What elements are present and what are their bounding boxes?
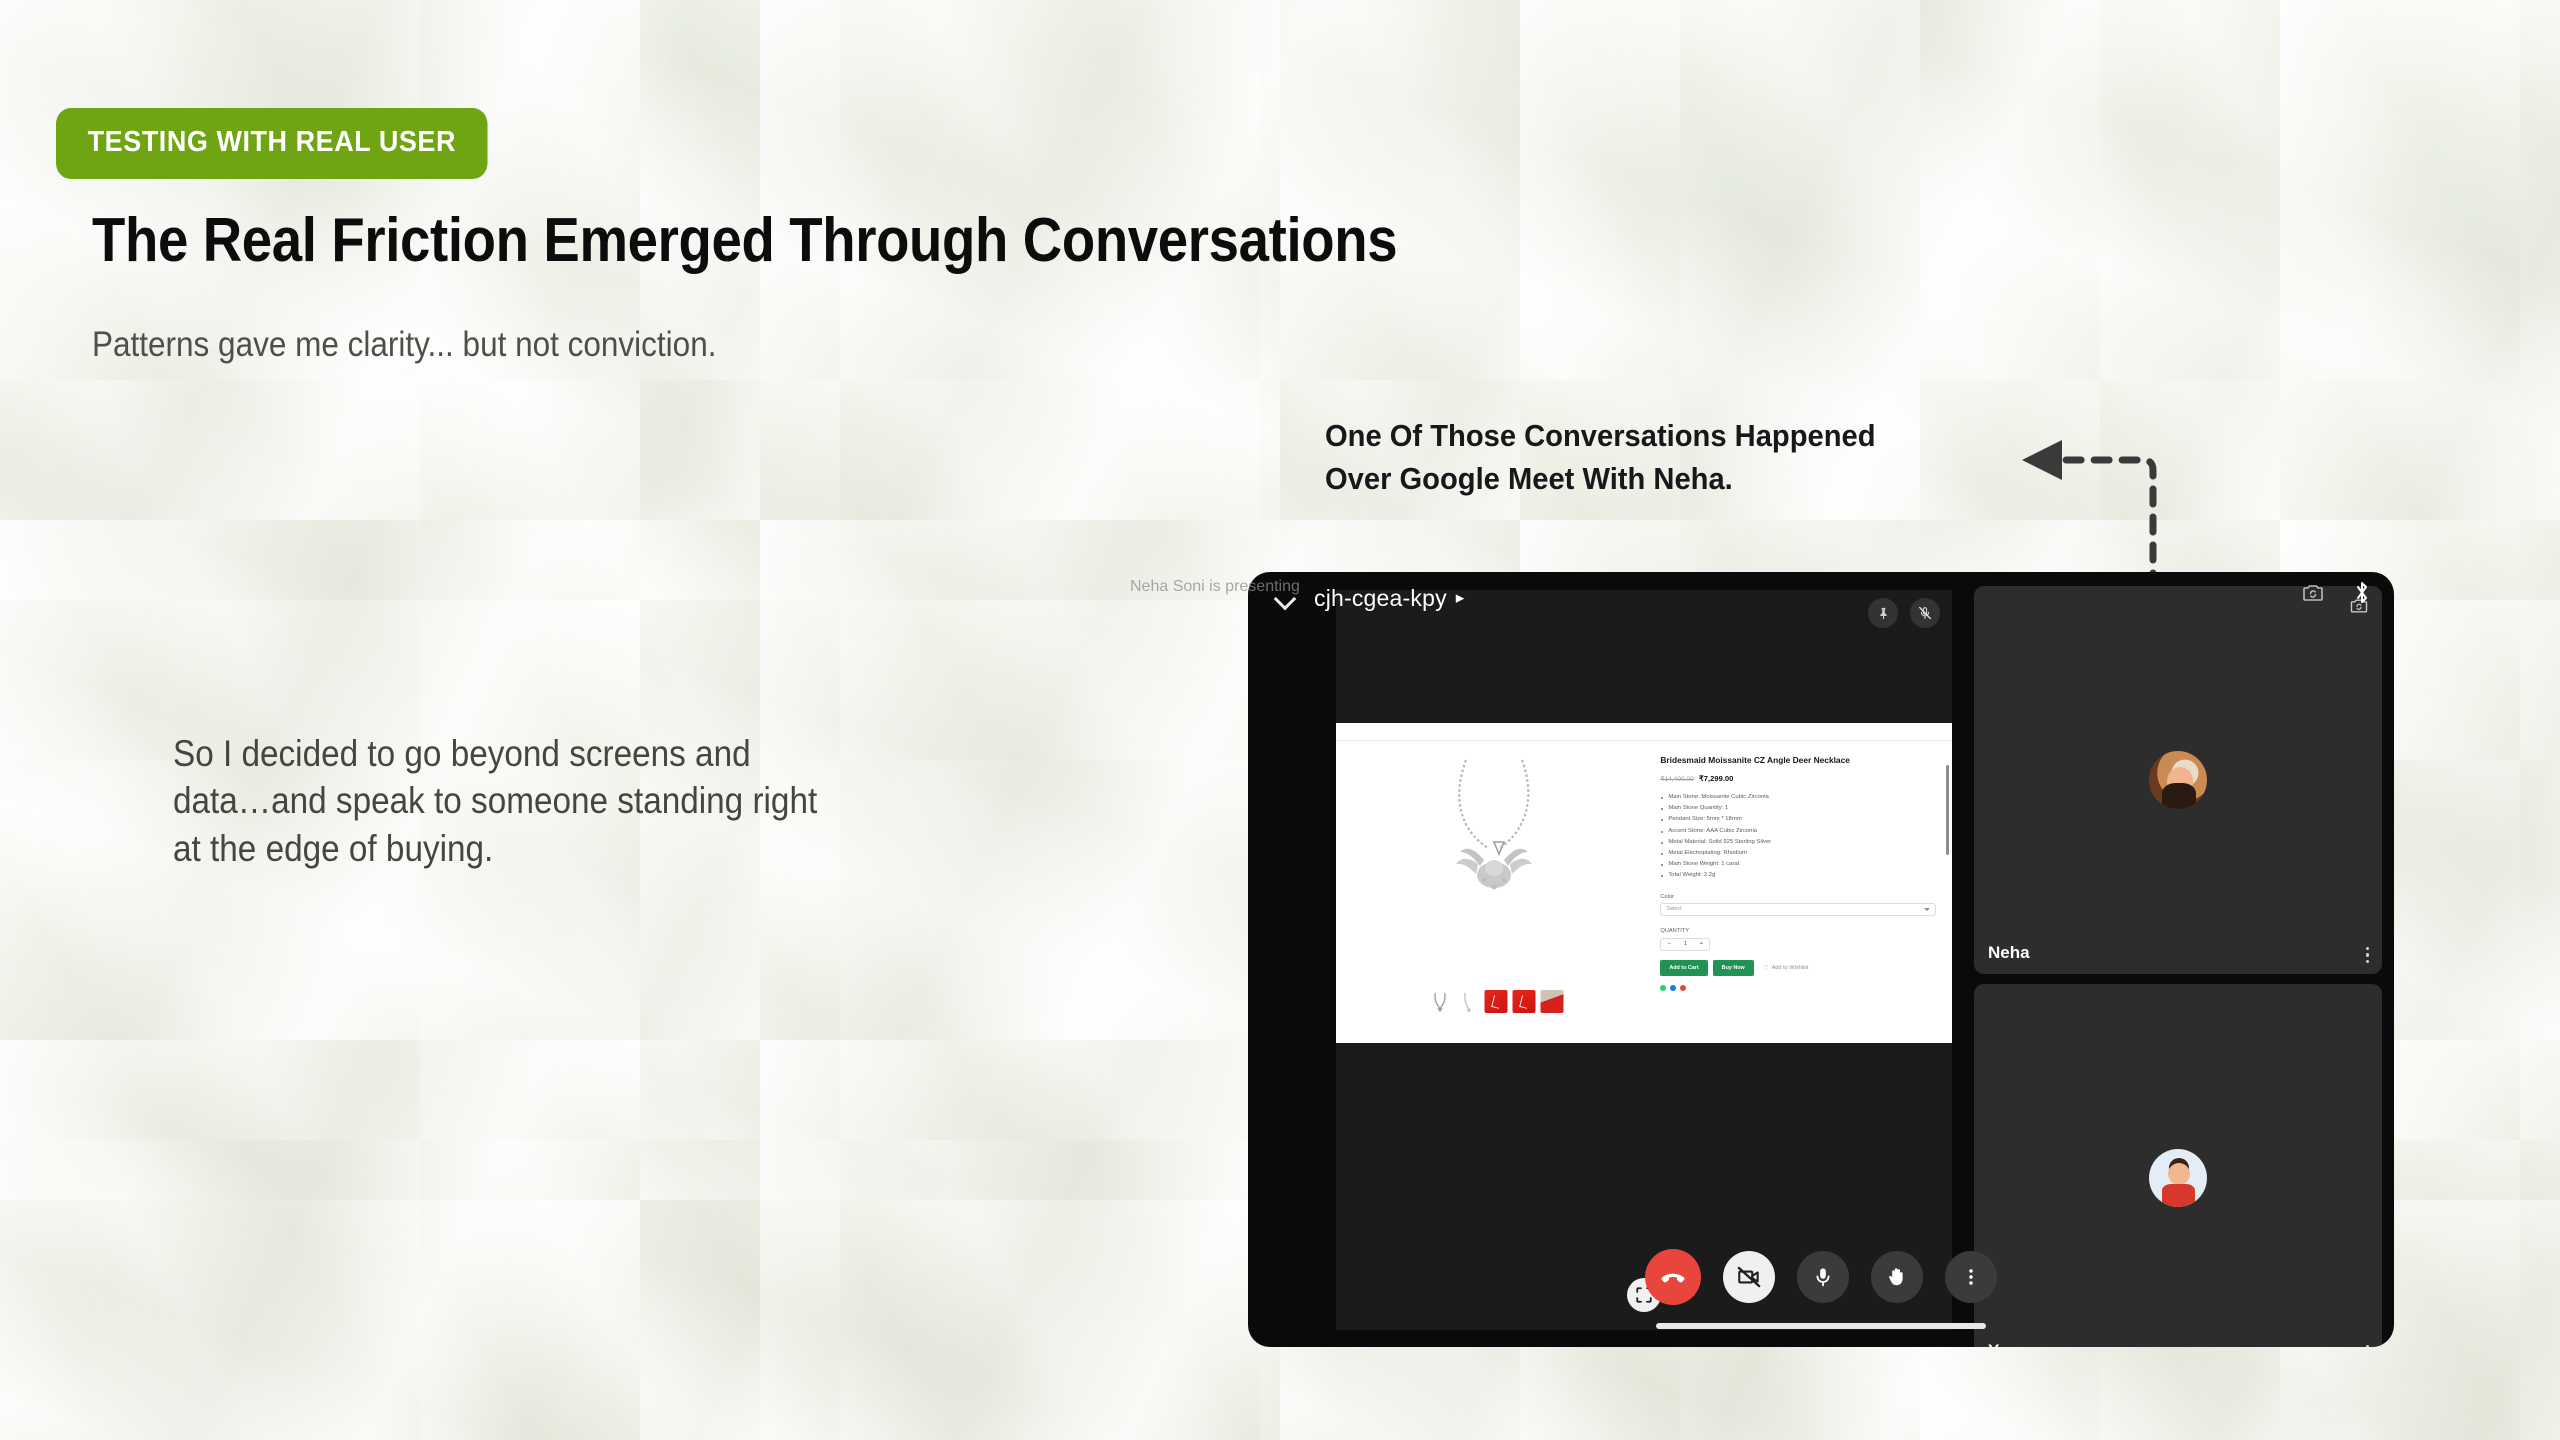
thumbnail-5[interactable] xyxy=(1541,990,1564,1013)
thumbnail-1[interactable] xyxy=(1429,990,1452,1013)
presenting-status-label: Neha Soni is presenting xyxy=(1130,578,1300,596)
product-thumbnails[interactable] xyxy=(1429,990,1564,1013)
thumbnail-3[interactable] xyxy=(1485,990,1508,1013)
wishlist-label: Add to Wishlist xyxy=(1772,965,1809,971)
add-to-wishlist-button[interactable]: ♡ Add to Wishlist xyxy=(1763,964,1809,972)
chevron-right-icon[interactable]: ▸ xyxy=(1456,588,1465,608)
spec-item: Total Weight: 2.2g xyxy=(1660,870,1936,881)
facebook-icon[interactable] xyxy=(1670,985,1676,991)
quantity-label: QUANTITY xyxy=(1660,928,1936,934)
body-line-2: data…and speak to someone standing right xyxy=(173,777,1154,824)
raise-hand-button[interactable] xyxy=(1871,1251,1923,1303)
microphone-button[interactable] xyxy=(1797,1251,1849,1303)
heart-icon: ♡ xyxy=(1763,964,1769,972)
shared-browser-chrome xyxy=(1336,723,1952,741)
camera-toggle-button[interactable] xyxy=(1723,1251,1775,1303)
end-call-button[interactable] xyxy=(1645,1249,1701,1305)
qty-value: 1 xyxy=(1684,941,1687,947)
annotation-callout: One Of Those Conversations Happened Over… xyxy=(1325,415,1983,501)
whatsapp-icon[interactable] xyxy=(1660,985,1666,991)
product-gallery[interactable] xyxy=(1336,742,1656,1043)
section-badge: TESTING WITH REAL USER xyxy=(56,108,488,179)
more-vertical-icon[interactable] xyxy=(2366,947,2369,963)
bluetooth-icon[interactable] xyxy=(2352,580,2372,606)
thumbnail-4[interactable] xyxy=(1513,990,1536,1013)
spec-item: Main Stone Weight: 1 carat xyxy=(1660,859,1936,870)
pinterest-icon[interactable] xyxy=(1680,985,1686,991)
body-line-1: So I decided to go beyond screens and xyxy=(173,730,1154,777)
dashed-arrow-icon xyxy=(1990,430,2220,590)
participant-name: Neha xyxy=(1988,943,2030,963)
color-select[interactable]: Select xyxy=(1660,903,1936,916)
google-meet-window[interactable]: cjh-cgea-kpy ▸ xyxy=(1248,572,2394,1347)
spec-item: Main Stone: Moissanite Cubic Zirconia xyxy=(1660,792,1936,803)
color-select-value: Select xyxy=(1666,906,1681,912)
product-details-panel: Bridesmaid Moissanite CZ Angle Deer Neck… xyxy=(1656,742,1952,1043)
body-line-3: at the edge of buying. xyxy=(173,825,1154,872)
thumbnail-2[interactable] xyxy=(1457,990,1480,1013)
product-title: Bridesmaid Moissanite CZ Angle Deer Neck… xyxy=(1660,755,1936,767)
product-specs-list: Main Stone: Moissanite Cubic Zirconia Ma… xyxy=(1660,792,1936,882)
quantity-stepper[interactable]: − 1 + xyxy=(1660,938,1710,951)
page-title: The Real Friction Emerged Through Conver… xyxy=(92,205,1397,276)
participant-name: You xyxy=(1988,1341,2019,1347)
participant-tile-neha[interactable]: Neha xyxy=(1974,586,2382,974)
slide-canvas: TESTING WITH REAL USER The Real Friction… xyxy=(0,0,2560,1440)
spec-item: Pendant Size: 5mm * 18mm xyxy=(1660,814,1936,825)
meet-header: cjh-cgea-kpy ▸ xyxy=(1248,572,2394,624)
social-share-row[interactable] xyxy=(1660,985,1936,991)
meeting-code-label[interactable]: cjh-cgea-kpy xyxy=(1314,585,1447,612)
home-indicator xyxy=(1656,1323,1986,1329)
shared-screen-content[interactable]: Bridesmaid Moissanite CZ Angle Deer Neck… xyxy=(1336,723,1952,1043)
meet-control-bar xyxy=(1248,1249,2394,1305)
frame-status-icons xyxy=(2300,580,2372,606)
spec-item: Metal Electroplating: Rhodium xyxy=(1660,848,1936,859)
color-label: Color xyxy=(1660,894,1936,900)
avatar xyxy=(2149,751,2207,809)
avatar xyxy=(2149,1149,2207,1207)
more-vertical-icon[interactable] xyxy=(2366,1345,2369,1347)
price-current: ₹7,299.00 xyxy=(1699,774,1733,783)
spec-item: Metal Material: Solid 925 Sterling Silve… xyxy=(1660,837,1936,848)
add-to-cart-button[interactable]: Add to Cart xyxy=(1660,960,1707,976)
product-actions: Add to Cart Buy Now ♡ Add to Wishlist xyxy=(1660,960,1936,976)
presentation-stage[interactable]: Bridesmaid Moissanite CZ Angle Deer Neck… xyxy=(1336,590,1952,1330)
necklace-product-image xyxy=(1426,756,1566,906)
chevron-down-icon xyxy=(1924,908,1930,911)
spec-item: Main Stone Quantity: 1 xyxy=(1660,803,1936,814)
camera-flip-icon[interactable] xyxy=(2300,581,2326,605)
shared-screen-scrollbar[interactable] xyxy=(1946,765,1949,855)
product-price-row: ₹14,400.00 ₹7,299.00 xyxy=(1660,774,1936,783)
spec-item: Accent Stone: AAA Cubic Zirconia xyxy=(1660,826,1936,837)
annotation-line-2: Over Google Meet With Neha. xyxy=(1325,458,1983,501)
body-copy: So I decided to go beyond screens and da… xyxy=(173,730,1154,872)
qty-increment[interactable]: + xyxy=(1700,941,1703,947)
more-options-button[interactable] xyxy=(1945,1251,1997,1303)
annotation-line-1: One Of Those Conversations Happened xyxy=(1325,415,1983,458)
qty-decrement[interactable]: − xyxy=(1668,941,1671,947)
price-original: ₹14,400.00 xyxy=(1660,776,1694,783)
page-subtitle: Patterns gave me clarity... but not conv… xyxy=(92,325,716,365)
buy-now-button[interactable]: Buy Now xyxy=(1713,960,1754,976)
